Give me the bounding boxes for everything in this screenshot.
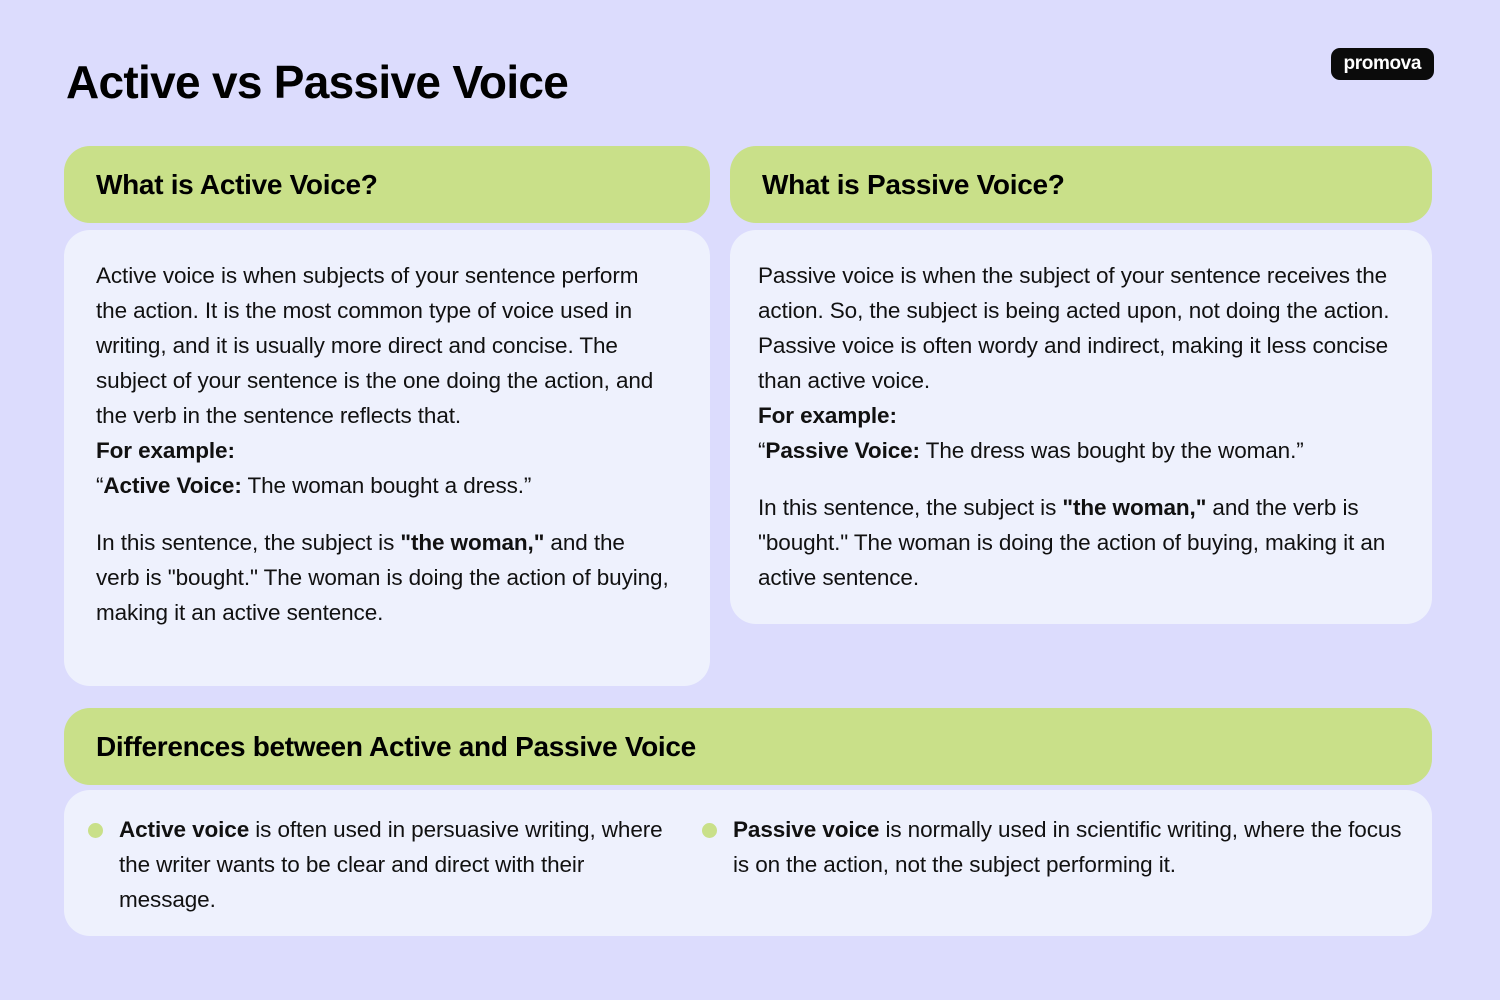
passive-voice-paragraph: Passive voice is when the subject of you… <box>758 258 1398 398</box>
section-header-active-voice: What is Active Voice? <box>64 146 710 223</box>
bullet-dot-icon <box>88 823 103 838</box>
section-header-differences-label: Differences between Active and Passive V… <box>64 731 696 763</box>
active-voice-explanation-pre: In this sentence, the subject is <box>96 530 400 555</box>
promova-logo: promova <box>1331 48 1434 80</box>
differences-column-active: Active voice is often used in persuasive… <box>88 812 678 917</box>
card-active-voice: Active voice is when subjects of your se… <box>64 230 710 686</box>
section-header-active-voice-label: What is Active Voice? <box>64 169 378 201</box>
difference-passive-text: Passive voice is normally used in scient… <box>733 812 1402 882</box>
active-voice-explanation-subject: "the woman," <box>400 530 544 555</box>
page-title: Active vs Passive Voice <box>66 55 568 109</box>
difference-active-term: Active voice <box>119 817 249 842</box>
passive-voice-explanation-subject: "the woman," <box>1062 495 1206 520</box>
passive-voice-example-label-bold: Passive Voice: <box>765 438 920 463</box>
differences-grid: Active voice is often used in persuasive… <box>64 790 1432 917</box>
active-voice-example-label: For example: <box>96 433 670 468</box>
section-header-passive-voice-label: What is Passive Voice? <box>730 169 1065 201</box>
difference-passive-term: Passive voice <box>733 817 879 842</box>
active-voice-example: “Active Voice: The woman bought a dress.… <box>96 468 670 503</box>
list-item: Passive voice is normally used in scient… <box>702 812 1402 882</box>
infographic-page: Active vs Passive Voice promova What is … <box>0 0 1500 1000</box>
passive-voice-example-label: For example: <box>758 398 1398 433</box>
passive-voice-spacer <box>758 468 1398 490</box>
passive-voice-example-sentence: The dress was bought by the woman.” <box>920 438 1304 463</box>
passive-voice-explanation-pre: In this sentence, the subject is <box>758 495 1062 520</box>
active-voice-paragraph: Active voice is when subjects of your se… <box>96 258 670 433</box>
differences-column-passive: Passive voice is normally used in scient… <box>702 812 1402 917</box>
active-voice-example-sentence: The woman bought a dress.” <box>242 473 532 498</box>
difference-active-text: Active voice is often used in persuasive… <box>119 812 678 917</box>
card-passive-voice: Passive voice is when the subject of you… <box>730 230 1432 624</box>
card-differences: Active voice is often used in persuasive… <box>64 790 1432 936</box>
passive-voice-example: “Passive Voice: The dress was bought by … <box>758 433 1398 468</box>
active-voice-explanation: In this sentence, the subject is "the wo… <box>96 525 670 630</box>
bullet-dot-icon <box>702 823 717 838</box>
section-header-differences: Differences between Active and Passive V… <box>64 708 1432 785</box>
active-voice-example-label-bold: Active Voice: <box>103 473 241 498</box>
section-header-passive-voice: What is Passive Voice? <box>730 146 1432 223</box>
active-voice-spacer <box>96 503 670 525</box>
list-item: Active voice is often used in persuasive… <box>88 812 678 917</box>
passive-voice-explanation: In this sentence, the subject is "the wo… <box>758 490 1398 595</box>
